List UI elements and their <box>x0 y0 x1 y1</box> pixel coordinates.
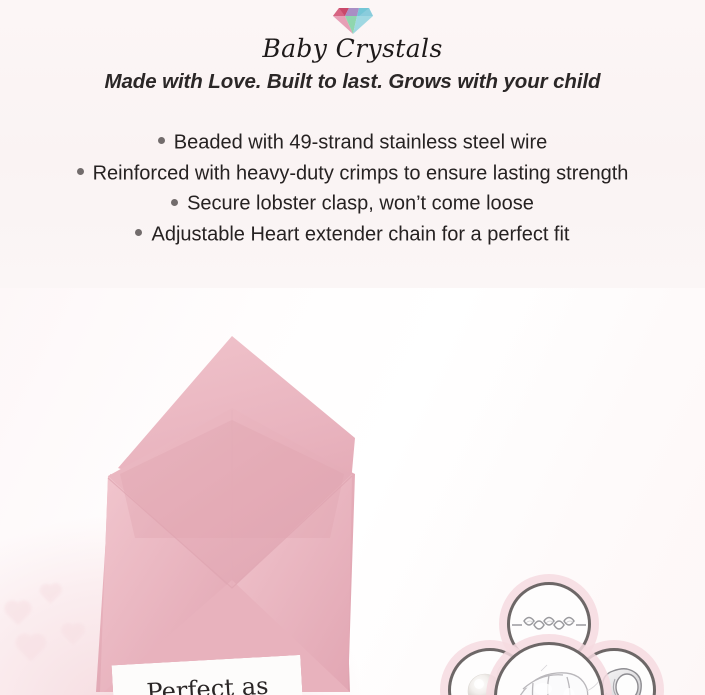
detail-circle-crystal-bracelet <box>494 642 604 695</box>
feature-item: Secure lobster clasp, won’t come loose <box>0 193 705 214</box>
feature-text: Adjustable Heart extender chain for a pe… <box>151 224 569 246</box>
product-infographic: Baby Crystals Made with Love. Built to l… <box>0 0 705 695</box>
jewelry-detail-cluster <box>442 580 657 695</box>
header-section: Baby Crystals Made with Love. Built to l… <box>0 0 705 290</box>
brand-logo: Baby Crystals <box>0 6 705 63</box>
crystal-bracelet-icon <box>497 645 601 695</box>
feature-item: Reinforced with heavy-duty crimps to ens… <box>0 163 705 184</box>
bullet-dot-icon <box>171 199 178 206</box>
gift-card-line-1: Perfect as <box>112 671 302 695</box>
feature-item: Beaded with 49-strand stainless steel wi… <box>0 132 705 153</box>
feature-text: Secure lobster clasp, won’t come loose <box>187 193 534 215</box>
gem-diamond-icon <box>330 6 376 36</box>
feature-text: Reinforced with heavy-duty crimps to ens… <box>93 162 629 184</box>
brand-name: Baby Crystals <box>0 34 705 63</box>
tagline: Made with Love. Built to last. Grows wit… <box>0 70 705 94</box>
feature-text: Beaded with 49-strand stainless steel wi… <box>174 132 548 154</box>
bullet-dot-icon <box>77 168 84 175</box>
bullet-dot-icon <box>135 229 142 236</box>
feature-item: Adjustable Heart extender chain for a pe… <box>0 224 705 245</box>
photo-scene: Perfect as Birthday & Baptism Gifts Our … <box>0 288 705 695</box>
feature-list: Beaded with 49-strand stainless steel wi… <box>0 132 705 255</box>
bullet-dot-icon <box>158 137 165 144</box>
